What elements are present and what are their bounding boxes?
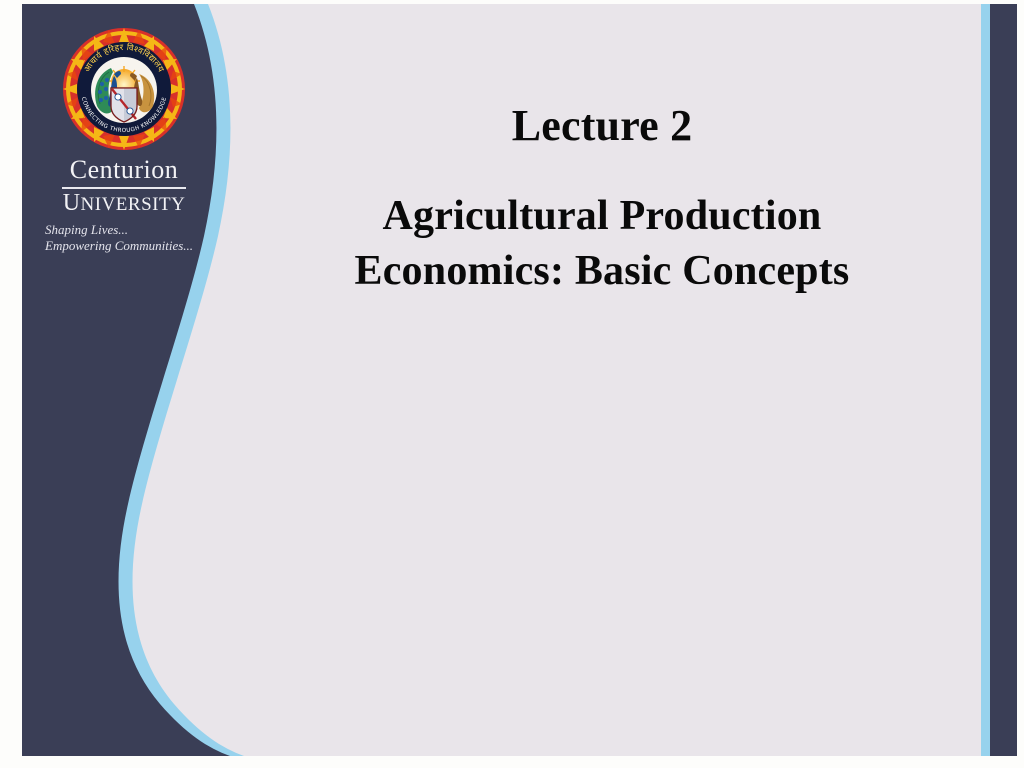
- brand-university-rest: NIVERSITY: [81, 194, 186, 215]
- university-emblem-icon: आचार्य हरिहर विश्वविद्यालय CONNECTING TH…: [61, 26, 187, 152]
- slide-canvas: आचार्य हरिहर विश्वविद्यालय CONNECTING TH…: [22, 4, 1017, 756]
- right-accent-stripe: [981, 4, 990, 756]
- university-logo-block: आचार्य हरिहर विश्वविद्यालय CONNECTING TH…: [40, 26, 208, 254]
- brand-university-initial: U: [63, 190, 81, 216]
- subject-line-1: Agricultural Production: [252, 189, 952, 244]
- tagline-line-2: Empowering Communities...: [45, 238, 208, 254]
- slide-root: आचार्य हरिहर विश्वविद्यालय CONNECTING TH…: [0, 0, 1024, 768]
- slide-title-area: Lecture 2 Agricultural Production Econom…: [252, 100, 952, 299]
- lecture-number-heading: Lecture 2: [252, 100, 952, 152]
- slide-subject-heading: Agricultural Production Economics: Basic…: [252, 189, 952, 299]
- brand-name-centurion: Centurion: [40, 156, 208, 186]
- brand-name-underline: [62, 187, 186, 189]
- brand-tagline: Shaping Lives... Empowering Communities.…: [40, 222, 208, 254]
- right-navy-band: [990, 4, 1017, 756]
- tagline-line-1: Shaping Lives...: [45, 222, 208, 238]
- subject-line-2: Economics: Basic Concepts: [252, 244, 952, 299]
- brand-name-university: UNIVERSITY: [40, 191, 208, 217]
